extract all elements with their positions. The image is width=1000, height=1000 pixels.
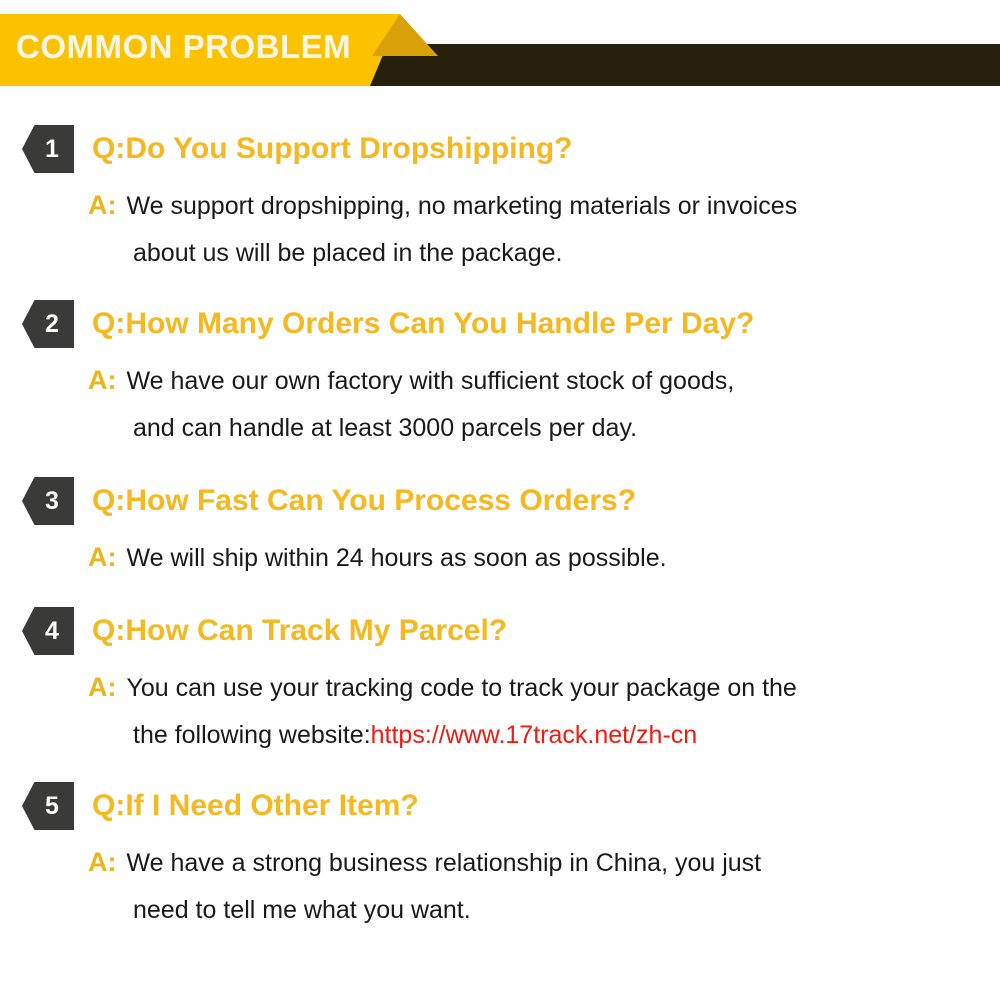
answer-line: about us will be placed in the package. bbox=[88, 230, 1000, 277]
question-row-5: 5 Q:If I Need Other Item? bbox=[0, 779, 1000, 833]
banner-dark-bar bbox=[372, 44, 1000, 86]
faq-item-5: 5 Q:If I Need Other Item? A: We have a s… bbox=[0, 779, 1000, 934]
question-row-1: 1 Q:Do You Support Dropshipping? bbox=[0, 122, 1000, 176]
hexagon-badge-icon: 2 bbox=[22, 300, 74, 348]
answer-marker: A: bbox=[88, 664, 117, 711]
answer-text: about us will be placed in the package. bbox=[133, 230, 562, 277]
answer-line: and can handle at least 3000 parcels per… bbox=[88, 405, 1000, 452]
badge-number: 4 bbox=[37, 619, 59, 644]
answer-line: need to tell me what you want. bbox=[88, 887, 1000, 934]
answer-text: need to tell me what you want. bbox=[133, 887, 471, 934]
hexagon-badge-icon: 3 bbox=[22, 477, 74, 525]
faq-item-4: 4 Q:How Can Track My Parcel? A: You can … bbox=[0, 604, 1000, 759]
question-text-2: Q:How Many Orders Can You Handle Per Day… bbox=[92, 307, 754, 341]
faq-item-3: 3 Q:How Fast Can You Process Orders? A: … bbox=[0, 474, 1000, 582]
answer-marker: A: bbox=[88, 839, 117, 886]
faq-item-1: 1 Q:Do You Support Dropshipping? A: We s… bbox=[0, 122, 1000, 277]
question-text-4: Q:How Can Track My Parcel? bbox=[92, 614, 507, 648]
hexagon-badge-icon: 1 bbox=[22, 125, 74, 173]
answer-text: and can handle at least 3000 parcels per… bbox=[133, 405, 637, 452]
answer-text: the following website: bbox=[133, 712, 371, 759]
question-row-4: 4 Q:How Can Track My Parcel? bbox=[0, 604, 1000, 658]
answer-block-5: A: We have a strong business relationshi… bbox=[88, 839, 1000, 934]
badge-number: 5 bbox=[37, 794, 59, 819]
hexagon-badge-icon: 5 bbox=[22, 782, 74, 830]
answer-line: A: We have our own factory with sufficie… bbox=[88, 357, 1000, 405]
answer-marker: A: bbox=[88, 357, 117, 404]
answer-text: You can use your tracking code to track … bbox=[127, 665, 797, 712]
question-text-1: Q:Do You Support Dropshipping? bbox=[92, 132, 572, 166]
answer-block-4: A: You can use your tracking code to tra… bbox=[88, 664, 1000, 759]
question-row-2: 2 Q:How Many Orders Can You Handle Per D… bbox=[0, 297, 1000, 351]
question-row-3: 3 Q:How Fast Can You Process Orders? bbox=[0, 474, 1000, 528]
question-text-5: Q:If I Need Other Item? bbox=[92, 789, 419, 823]
answer-block-2: A: We have our own factory with sufficie… bbox=[88, 357, 1000, 452]
page-title: COMMON PROBLEM bbox=[16, 28, 351, 66]
answer-line: A: We support dropshipping, no marketing… bbox=[88, 182, 1000, 230]
faq-list: 1 Q:Do You Support Dropshipping? A: We s… bbox=[0, 122, 1000, 934]
badge-number: 2 bbox=[37, 312, 59, 337]
hexagon-badge-icon: 4 bbox=[22, 607, 74, 655]
header-banner: COMMON PROBLEM bbox=[0, 0, 1000, 104]
answer-block-1: A: We support dropshipping, no marketing… bbox=[88, 182, 1000, 277]
tracking-url-link[interactable]: https://www.17track.net/zh-cn bbox=[371, 712, 698, 759]
answer-marker: A: bbox=[88, 182, 117, 229]
answer-line: the following website: https://www.17tra… bbox=[88, 712, 1000, 759]
answer-text: We have a strong business relationship i… bbox=[127, 840, 762, 887]
answer-line: A: We have a strong business relationshi… bbox=[88, 839, 1000, 887]
badge-number: 1 bbox=[37, 137, 59, 162]
faq-item-2: 2 Q:How Many Orders Can You Handle Per D… bbox=[0, 297, 1000, 452]
answer-line: A: We will ship within 24 hours as soon … bbox=[88, 534, 1000, 582]
answer-block-3: A: We will ship within 24 hours as soon … bbox=[88, 534, 1000, 582]
badge-number: 3 bbox=[37, 489, 59, 514]
answer-text: We will ship within 24 hours as soon as … bbox=[127, 535, 667, 582]
question-text-3: Q:How Fast Can You Process Orders? bbox=[92, 484, 636, 518]
answer-text: We support dropshipping, no marketing ma… bbox=[127, 183, 798, 230]
answer-marker: A: bbox=[88, 534, 117, 581]
answer-line: A: You can use your tracking code to tra… bbox=[88, 664, 1000, 712]
answer-text: We have our own factory with sufficient … bbox=[127, 358, 735, 405]
